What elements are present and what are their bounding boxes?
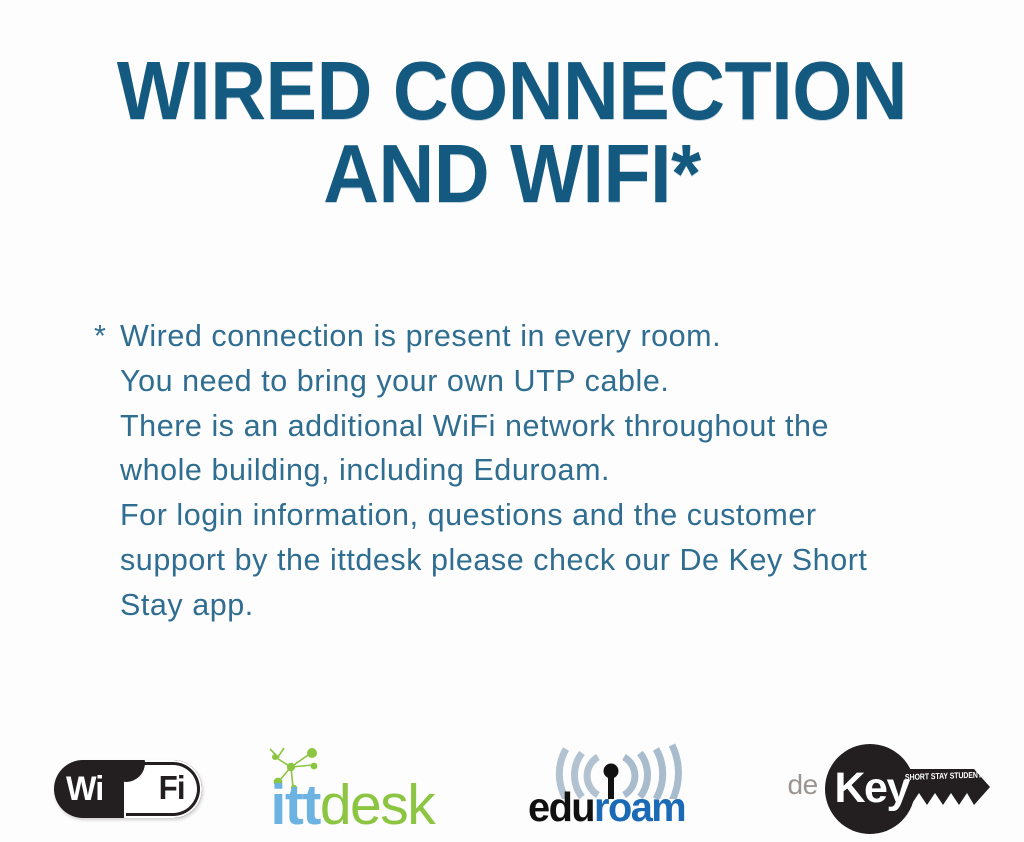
wifi-text-fi: Fi: [158, 771, 184, 805]
logo-dekey: de Key SHORT STAY STUDENT: [770, 736, 1020, 842]
body-line: You need to bring your own UTP cable.: [94, 359, 974, 404]
page-title: WIRED CONNECTION AND WIFI*: [0, 52, 1024, 214]
dekey-text-de: de: [788, 771, 818, 799]
logo-row: Wi Fi: [0, 736, 1024, 842]
logo-wifi: Wi Fi: [18, 736, 238, 842]
ittdesk-text-itt: itt: [271, 773, 320, 837]
body-line: Stay app.: [94, 583, 974, 628]
body-line-text: Stay app.: [120, 588, 254, 622]
eduroam-text-edu: edu: [528, 784, 594, 830]
body-line: support by the ittdesk please check our …: [94, 538, 974, 583]
page-title-line-2: AND WIFI*: [36, 135, 988, 214]
body-line: For login information, questions and the…: [94, 493, 974, 538]
wifi-icon: Wi Fi: [54, 760, 202, 818]
body-line: * Wired connection is present in every r…: [94, 314, 974, 359]
body-line-text: support by the ittdesk please check our …: [120, 543, 867, 577]
body-line: There is an additional WiFi network thro…: [94, 404, 974, 449]
eduroam-text-roam: roam: [594, 784, 685, 830]
body-line-text: There is an additional WiFi network thro…: [120, 409, 829, 443]
body-line-text: You need to bring your own UTP cable.: [120, 364, 669, 398]
body-line-text: whole building, including Eduroam.: [120, 453, 610, 487]
dekey-text-key: Key: [835, 767, 909, 810]
footnote-asterisk: *: [94, 314, 106, 359]
slide-canvas: WIRED CONNECTION AND WIFI* * Wired conne…: [0, 0, 1024, 842]
body-line-text: Wired connection is present in every roo…: [120, 319, 721, 353]
page-title-line-1: WIRED CONNECTION: [36, 52, 988, 131]
body-text-block: * Wired connection is present in every r…: [94, 314, 974, 628]
body-line: whole building, including Eduroam.: [94, 448, 974, 493]
logo-ittdesk: ittdesk: [240, 736, 470, 842]
logo-eduroam: eduroam: [500, 736, 740, 842]
body-line-text: For login information, questions and the…: [120, 498, 817, 532]
wifi-text-wi: Wi: [66, 770, 103, 809]
ittdesk-text-desk: desk: [320, 773, 434, 837]
